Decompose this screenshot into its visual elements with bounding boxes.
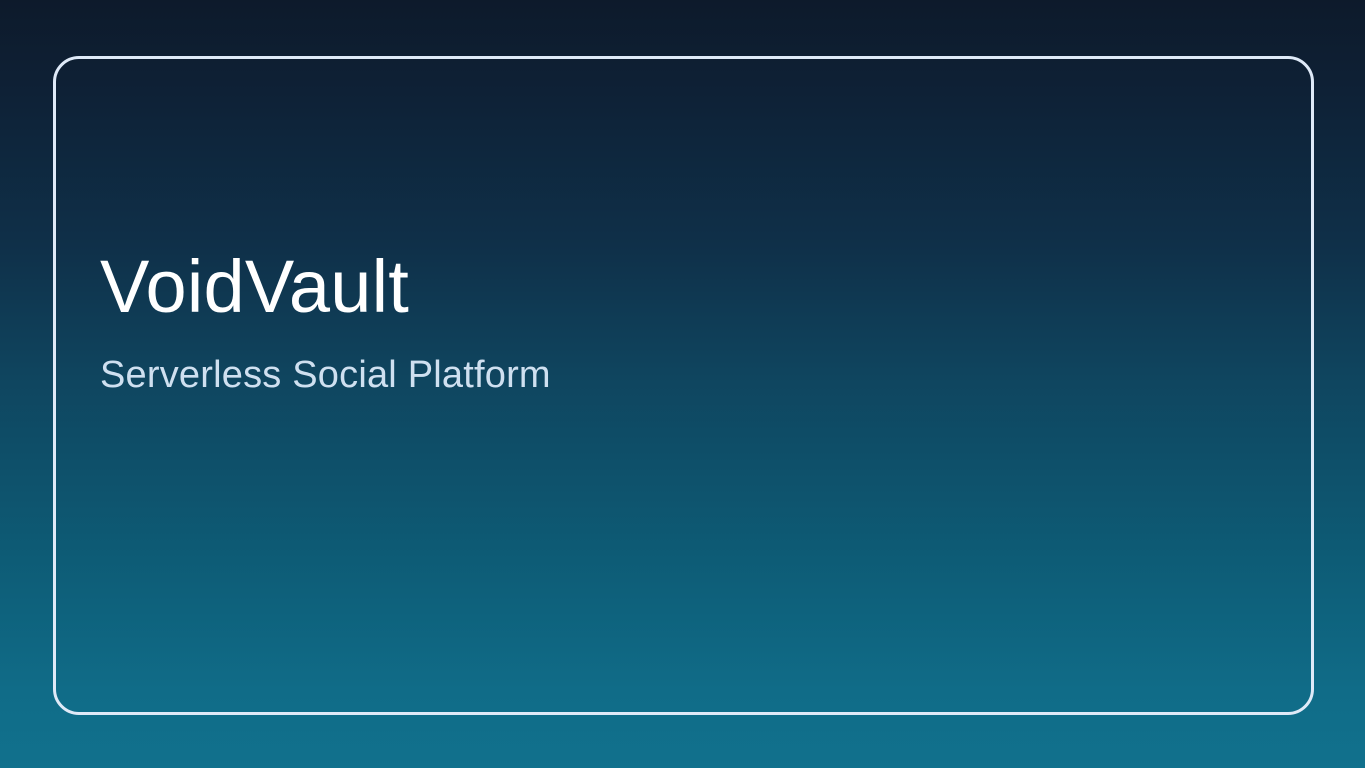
title-block: VoidVault Serverless Social Platform (100, 248, 1240, 397)
page-title: VoidVault (100, 248, 1240, 326)
page-subtitle: Serverless Social Platform (100, 326, 1240, 398)
title-slide: VoidVault Serverless Social Platform (0, 0, 1365, 768)
